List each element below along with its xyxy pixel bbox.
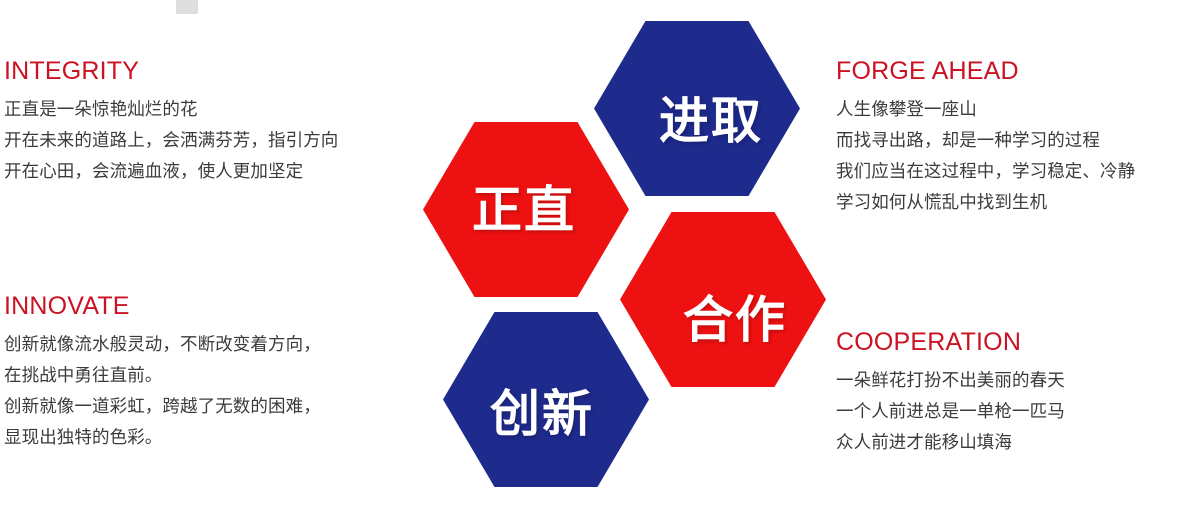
- hexagon-label-progress: 进取: [659, 96, 763, 146]
- body-line: 显现出独特的色彩。: [4, 422, 422, 453]
- infographic-canvas: INTEGRITY 正直是一朵惊艳灿烂的花 开在未来的道路上，会洒满芬芳，指引方…: [0, 0, 1190, 505]
- body-line: 开在未来的道路上，会洒满芬芳，指引方向: [4, 125, 422, 156]
- body-line: 我们应当在这过程中，学习稳定、冷静: [836, 156, 1190, 187]
- body-line: 人生像攀登一座山: [836, 94, 1190, 125]
- body-line: 在挑战中勇往直前。: [4, 360, 422, 391]
- text-block-integrity: INTEGRITY 正直是一朵惊艳灿烂的花 开在未来的道路上，会洒满芬芳，指引方…: [4, 56, 422, 187]
- body-line: 一朵鲜花打扮不出美丽的春天: [836, 365, 1190, 396]
- body-line: 创新就像一道彩虹，跨越了无数的困难，: [4, 391, 422, 422]
- body-integrity: 正直是一朵惊艳灿烂的花 开在未来的道路上，会洒满芬芳，指引方向 开在心田，会流遍…: [4, 94, 422, 187]
- body-line: 一个人前进总是一单枪一匹马: [836, 396, 1190, 427]
- body-line: 学习如何从慌乱中找到生机: [836, 187, 1190, 218]
- text-block-innovate: INNOVATE 创新就像流水般灵动，不断改变着方向， 在挑战中勇往直前。 创新…: [4, 291, 422, 453]
- hexagon-label-integrity: 正直: [472, 185, 576, 235]
- heading-forge-ahead: FORGE AHEAD: [836, 56, 1190, 86]
- body-line: 开在心田，会流遍血液，使人更加坚定: [4, 156, 422, 187]
- hexagon-label-innovation: 创新: [490, 389, 594, 439]
- heading-innovate: INNOVATE: [4, 291, 422, 321]
- body-cooperation: 一朵鲜花打扮不出美丽的春天 一个人前进总是一单枪一匹马 众人前进才能移山填海: [836, 365, 1190, 458]
- top-gray-artifact: [176, 0, 198, 14]
- body-line: 创新就像流水般灵动，不断改变着方向，: [4, 329, 422, 360]
- hexagon-innovation[interactable]: 创新: [443, 312, 649, 487]
- hexagon-progress[interactable]: 进取: [594, 21, 800, 196]
- body-line: 而找寻出路，却是一种学习的过程: [836, 125, 1190, 156]
- hexagon-integrity[interactable]: 正直: [423, 122, 629, 297]
- hexagon-cooperation[interactable]: 合作: [620, 212, 826, 387]
- hexagon-label-cooperation: 合作: [683, 295, 787, 345]
- heading-integrity: INTEGRITY: [4, 56, 422, 86]
- text-block-forge-ahead: FORGE AHEAD 人生像攀登一座山 而找寻出路，却是一种学习的过程 我们应…: [836, 56, 1190, 218]
- body-line: 正直是一朵惊艳灿烂的花: [4, 94, 422, 125]
- body-innovate: 创新就像流水般灵动，不断改变着方向， 在挑战中勇往直前。 创新就像一道彩虹，跨越…: [4, 329, 422, 453]
- body-line: 众人前进才能移山填海: [836, 427, 1190, 458]
- text-block-cooperation: COOPERATION 一朵鲜花打扮不出美丽的春天 一个人前进总是一单枪一匹马 …: [836, 327, 1190, 458]
- heading-cooperation: COOPERATION: [836, 327, 1190, 357]
- body-forge-ahead: 人生像攀登一座山 而找寻出路，却是一种学习的过程 我们应当在这过程中，学习稳定、…: [836, 94, 1190, 218]
